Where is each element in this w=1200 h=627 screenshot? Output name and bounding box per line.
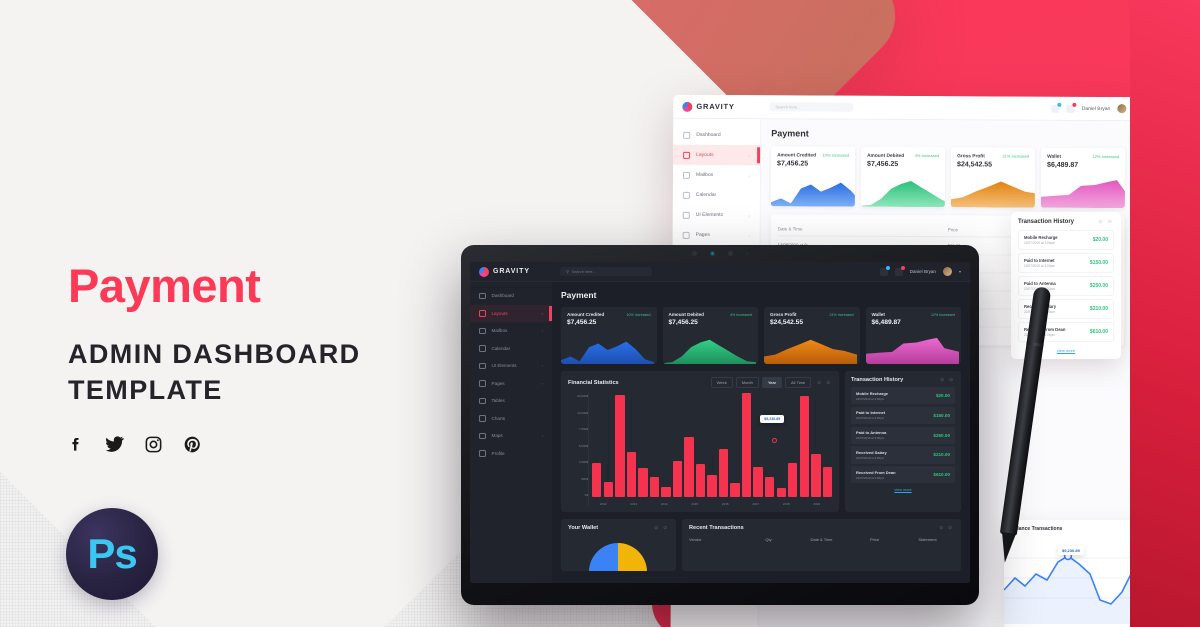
panel-menu-icon[interactable]: ⊙ ⊙	[940, 377, 955, 383]
bar	[742, 393, 751, 497]
panel-title: Balance Transactions	[1011, 526, 1147, 532]
chevron-icon: ‹	[748, 233, 749, 238]
chart-highlight-dot	[772, 438, 777, 443]
bg-search-input[interactable]: Search here...	[769, 102, 853, 111]
transaction-date: 22/07/2019 at 3:00pm	[1024, 241, 1058, 245]
bg-th-header: Transaction History ⊙ ⊙	[1018, 219, 1114, 225]
chevron-icon: ‹	[749, 173, 750, 178]
bar	[604, 482, 613, 497]
transaction-amount: $210.00	[1090, 306, 1108, 312]
y-axis: 20,000$ 10,000$ 7,500$ 5,000$ 2,500$ 500…	[568, 392, 588, 506]
transaction-amount: $250.00	[933, 433, 950, 438]
sidebar-item-ui-elements[interactable]: UI Elements‹	[673, 205, 760, 225]
column-header: Qty	[742, 537, 795, 542]
middle-row: Financial Statistics Week Month Year All…	[561, 371, 961, 512]
bar	[684, 437, 693, 497]
right-red-band	[1130, 0, 1200, 627]
stat-value: $6,489.87	[1047, 162, 1119, 169]
tablet-screen: GRAVITY ⚲ Search here... Daniel Bryan ▾ …	[470, 262, 970, 583]
stat-delta: 10% Increased	[627, 313, 651, 317]
stat-card-profit: Gross Profit21% Increased $24,542.55	[764, 307, 860, 364]
stat-label: Amount Debited	[867, 154, 904, 159]
bar	[627, 452, 636, 497]
transaction-amount: $150.00	[1090, 260, 1108, 266]
tab-week[interactable]: Week	[711, 377, 733, 388]
brand-text: GRAVITY	[696, 102, 734, 111]
sidebar-item-label: Profile	[492, 451, 505, 456]
sidebar-item-label: Dashboard	[696, 132, 720, 138]
sidebar-item-mailbox[interactable]: Mailbox‹	[673, 165, 760, 185]
ui-elements-icon	[683, 211, 690, 218]
x-tick: 2014	[649, 502, 680, 506]
x-tick: 2017	[741, 502, 772, 506]
search-icon: ⚲	[566, 269, 569, 274]
transaction-date: 22/07/2019 at 3:00pm	[856, 416, 885, 420]
sidebar-item-dashboard[interactable]: Dashboard	[673, 125, 760, 145]
stat-value: $24,542.55	[957, 161, 1029, 168]
stat-label: Gross Profit	[957, 154, 985, 159]
brand-text: GRAVITY	[493, 268, 530, 275]
tables-icon	[479, 398, 486, 405]
bar	[696, 464, 705, 497]
transaction-date: 22/07/2019 at 3:00pm	[856, 436, 886, 440]
page-title: Payment	[561, 290, 961, 300]
transaction-name: Mobile Recharge	[856, 391, 888, 396]
dashboard-icon	[479, 293, 486, 300]
stat-label: Wallet	[1047, 155, 1061, 160]
column-header: Statement	[901, 537, 954, 542]
sparkline-debited	[861, 177, 945, 207]
app-main: Payment Amount Credited10% Increased $7,…	[552, 282, 970, 583]
bg-topbar: GRAVITY Search here... Daniel Bryan	[673, 95, 1135, 121]
bg-brand: GRAVITY	[673, 101, 761, 111]
led-icon	[746, 252, 749, 255]
fin-header: Financial Statistics Week Month Year All…	[568, 377, 832, 388]
bottom-row: Your Wallet ⊙ ⊙ Recent Transactions ⊙ ⊙ …	[561, 519, 961, 571]
y-tick: 5,000$	[568, 444, 588, 448]
x-tick: 2018	[771, 502, 802, 506]
charts-icon	[479, 415, 486, 422]
stat-label: Amount Credited	[777, 153, 816, 158]
chevron-icon: ‹	[542, 363, 543, 368]
stat-delta: 4% Increased	[915, 153, 939, 158]
transaction-date: 22/07/2019 at 3:00pm	[856, 456, 887, 460]
sidebar-item-label: Tables	[492, 398, 505, 403]
transaction-name: Mobile Recharge	[1024, 235, 1058, 240]
user-name: Daniel Bryan	[910, 269, 936, 274]
bar	[800, 396, 809, 497]
bar	[753, 467, 762, 497]
recent-transactions-panel: Recent Transactions ⊙ ⊙ Vendor Qty Date …	[682, 519, 961, 571]
transaction-amount: $20.00	[1093, 237, 1108, 243]
transaction-row: Received Salary22/07/2019 at 3:00pm$210.…	[851, 446, 955, 463]
transaction-date: 22/07/2019 at 3:00pm	[856, 397, 888, 401]
bar	[719, 449, 728, 497]
promo-copy: Payment ADMIN DASHBOARD TEMPLATE	[68, 262, 398, 454]
stat-card-debited: Amount Debited4% Increased $7,456.25	[663, 307, 759, 364]
gravity-logo-icon	[682, 101, 692, 111]
stat-label: Wallet	[872, 312, 885, 317]
transaction-row: Mobile Recharge22/07/2019 at 3:00pm$20.0…	[1018, 230, 1114, 250]
sidebar-item-label: Maps	[492, 433, 503, 438]
wallet-donut-chart	[589, 543, 647, 571]
panel-title: Transaction History	[851, 377, 903, 383]
ui-elements-icon	[479, 363, 486, 370]
app-topbar: GRAVITY ⚲ Search here... Daniel Bryan ▾	[470, 262, 970, 282]
panel-title: Transaction History	[1018, 219, 1074, 225]
transaction-amount: $210.00	[933, 452, 950, 457]
sparkline-wallet	[1041, 178, 1125, 208]
bar	[615, 395, 624, 497]
sidebar-item-label: Layouts	[492, 311, 508, 316]
stat-delta: 21% Increased	[1002, 154, 1029, 159]
sidebar-item-calendar[interactable]: Calendar	[673, 185, 760, 205]
transaction-name: Paid to Internet	[1024, 258, 1055, 263]
panel-menu-icon[interactable]: ⊙ ⊙	[817, 380, 832, 386]
column-header: Date & Time	[778, 226, 948, 232]
sidebar-item-calendar[interactable]: Calendar	[470, 340, 552, 358]
your-wallet-panel: Your Wallet ⊙ ⊙	[561, 519, 676, 571]
sparkline-profit	[951, 177, 1035, 207]
chart-tooltip: $9,230.89	[760, 415, 784, 423]
app-brand[interactable]: GRAVITY	[470, 267, 552, 277]
stat-cards: Amount Credited10% Increased $7,456.25 A…	[561, 307, 961, 364]
mailbox-icon	[683, 171, 690, 178]
recent-table-header: Vendor Qty Date & Time Price Statement	[689, 531, 954, 542]
transaction-row: Received From Dean22/07/2019 at 3:00pm$6…	[851, 466, 955, 483]
promo-headline: Payment	[68, 262, 398, 309]
search-placeholder: Search here...	[572, 270, 596, 274]
stat-card: Gross Profit21% Increased $24,542.55	[951, 147, 1035, 207]
mailbox-icon	[479, 328, 486, 335]
view-more-link[interactable]: view more	[851, 486, 955, 492]
y-tick: 10,000$	[568, 411, 588, 415]
tab-year[interactable]: Year	[762, 377, 782, 388]
x-axis: 20122013201420152016201720182019	[588, 502, 832, 506]
facebook-icon[interactable]	[68, 434, 84, 454]
chart-tooltip: $9,230.89	[1058, 546, 1084, 555]
x-tick: 2019	[802, 502, 833, 506]
transaction-date: 22/07/2019 at 3:00pm	[1024, 264, 1055, 268]
column-header: Price	[848, 537, 901, 542]
sidebar-item-label: Dashboard	[492, 293, 514, 298]
transaction-history-panel: Transaction History ⊙ ⊙ Mobile Recharge2…	[845, 371, 961, 512]
bar	[707, 475, 716, 497]
sidebar-item-label: Charts	[492, 416, 506, 421]
sidebar-item-label: UI Elements	[696, 212, 723, 218]
bg-user-name: Daniel Bryan	[1082, 105, 1111, 111]
sidebar-item-mailbox[interactable]: Mailbox‹	[470, 322, 552, 340]
stat-card: Wallet12% Increased $6,489.87	[1041, 148, 1125, 208]
stat-delta: 12% Increased	[931, 313, 955, 317]
panel-title: Your Wallet	[568, 525, 598, 531]
sidebar-item-label: Calendar	[492, 346, 511, 351]
stat-card-credited: Amount Credited10% Increased $7,456.25	[561, 307, 657, 364]
photoshop-badge: Ps	[66, 508, 158, 600]
bar	[823, 467, 832, 497]
transaction-row: Paid to Internet22/07/2019 at 3:00pm$150…	[1018, 253, 1114, 273]
bar	[661, 487, 670, 497]
stat-card: Amount Debited4% Increased $7,456.25	[861, 147, 945, 207]
transaction-name: Paid to Antenna	[1024, 281, 1056, 286]
chevron-icon: ‹	[542, 433, 543, 438]
tablet-device: GRAVITY ⚲ Search here... Daniel Bryan ▾ …	[461, 245, 979, 605]
sidebar-item-label: Calendar	[696, 192, 716, 198]
transaction-row: Paid to Antenna22/07/2019 at 3:00pm$250.…	[851, 427, 955, 444]
social-icons	[68, 434, 398, 454]
range-tabs: Week Month Year All Time	[711, 377, 812, 388]
stat-label: Gross Profit	[770, 312, 797, 317]
transaction-date: 22/07/2019 at 3:00pm	[856, 476, 896, 480]
financial-statistics-panel: Financial Statistics Week Month Year All…	[561, 371, 839, 512]
maps-icon	[479, 433, 486, 440]
bar	[638, 468, 647, 497]
panel-title: Recent Transactions	[689, 525, 744, 531]
x-tick: 2012	[588, 502, 619, 506]
transaction-amount: $20.00	[936, 393, 950, 398]
sidebar-item-label: Mailbox	[492, 328, 508, 333]
transaction-name: Paid to Internet	[856, 410, 885, 415]
pinterest-icon[interactable]	[183, 435, 202, 454]
bar	[788, 463, 797, 497]
panel-menu-icon[interactable]: ⊙ ⊙	[654, 525, 669, 531]
tablet-sensors	[461, 251, 979, 256]
sparkline-profit	[764, 336, 857, 364]
transaction-amount: $250.00	[1090, 283, 1108, 289]
chevron-down-icon[interactable]: ▾	[959, 269, 961, 274]
layouts-icon	[479, 310, 486, 317]
sidebar-item-tables[interactable]: Tables	[470, 392, 552, 410]
bar	[730, 483, 739, 497]
pages-icon	[479, 380, 486, 387]
bg-page-title: Payment	[771, 128, 1125, 140]
app-body: Dashboard Layouts‹ Mailbox‹ Calendar UI …	[470, 282, 970, 583]
y-tick: 7,500$	[568, 427, 588, 431]
profile-icon	[479, 450, 486, 457]
sparkline-credited	[561, 336, 654, 364]
sparkline-wallet	[866, 336, 959, 364]
transaction-name: Paid to Antenna	[856, 430, 886, 435]
stat-value: $7,456.25	[867, 161, 939, 168]
panel-title: Financial Statistics	[568, 380, 619, 386]
stat-card-wallet: Wallet12% Increased $6,489.87	[866, 307, 962, 364]
mail-icon[interactable]	[880, 268, 888, 276]
chevron-icon: ‹	[542, 311, 543, 316]
gravity-logo-icon	[479, 267, 489, 277]
sidebar-item-label: Layouts	[696, 152, 714, 158]
calendar-icon	[683, 191, 690, 198]
sidebar-item-layouts[interactable]: Layouts‹	[470, 305, 552, 323]
twitter-icon[interactable]	[104, 434, 124, 454]
y-tick: 2,500$	[568, 460, 588, 464]
stat-label: Amount Credited	[567, 312, 604, 317]
pages-icon	[683, 231, 690, 238]
transaction-row: Paid to Internet22/07/2019 at 3:00pm$150…	[851, 407, 955, 424]
y-tick: 20,000$	[568, 394, 588, 398]
sidebar-item-profile[interactable]: Profile	[470, 445, 552, 463]
sidebar-item-label: Mailbox	[696, 172, 713, 178]
avatar[interactable]	[943, 267, 952, 276]
stat-value: $7,456.25	[567, 319, 651, 326]
sensor-icon	[692, 251, 697, 256]
transaction-amount: $610.00	[933, 472, 950, 477]
bar	[811, 454, 820, 497]
stat-delta: 10% Increased	[822, 153, 849, 158]
bell-icon[interactable]	[1067, 104, 1075, 112]
y-tick: 500$	[568, 477, 588, 481]
sparkline-credited	[771, 176, 855, 206]
chevron-icon: ‹	[542, 328, 543, 333]
bar	[777, 488, 786, 497]
panel-menu-icon[interactable]: ⊙ ⊙	[1098, 219, 1114, 225]
x-tick: 2015	[680, 502, 711, 506]
bell-icon[interactable]	[895, 268, 903, 276]
bar	[592, 463, 601, 497]
bar	[765, 477, 774, 497]
panel-menu-icon[interactable]: ⊙ ⊙	[939, 525, 954, 531]
transaction-name: Received Salary	[856, 450, 887, 455]
x-tick: 2016	[710, 502, 741, 506]
transaction-row: Mobile Recharge22/07/2019 at 3:00pm$20.0…	[851, 387, 955, 404]
topbar-right: Daniel Bryan ▾	[880, 267, 970, 276]
sidebar-item-pages[interactable]: Pages‹	[470, 375, 552, 393]
tab-month[interactable]: Month	[736, 377, 759, 388]
stylus-tip	[997, 532, 1015, 564]
bg-topbar-right: Daniel Bryan	[1052, 104, 1136, 113]
app-sidebar: Dashboard Layouts‹ Mailbox‹ Calendar UI …	[470, 282, 552, 583]
avatar[interactable]	[1117, 104, 1126, 113]
mail-icon[interactable]	[1052, 104, 1060, 112]
search-input[interactable]: ⚲ Search here...	[560, 267, 652, 276]
sparkline-debited	[663, 336, 756, 364]
transaction-amount: $610.00	[1090, 329, 1108, 335]
stat-value: $24,542.55	[770, 319, 854, 326]
chevron-icon: ‹	[748, 213, 749, 218]
stat-value: $6,489.87	[872, 319, 956, 326]
calendar-icon	[479, 345, 486, 352]
sidebar-item-dashboard[interactable]: Dashboard	[470, 287, 552, 305]
x-tick: 2013	[619, 502, 650, 506]
sidebar-item-pages[interactable]: Pages‹	[673, 225, 760, 245]
fin-plot: 20,000$ 10,000$ 7,500$ 5,000$ 2,500$ 500…	[568, 392, 832, 506]
bar	[650, 477, 659, 497]
bar-series	[588, 392, 832, 506]
stat-delta: 12% Increased	[1092, 154, 1119, 159]
instagram-icon[interactable]	[144, 435, 163, 454]
bar	[673, 461, 682, 497]
y-tick: 0$	[568, 493, 588, 497]
th-header: Transaction History ⊙ ⊙	[851, 377, 955, 383]
stat-label: Amount Debited	[669, 312, 704, 317]
stat-value: $7,456.25	[777, 160, 849, 167]
stat-delta: 4% Increased	[730, 313, 752, 317]
transaction-amount: $150.00	[933, 413, 950, 418]
sidebar-item-ui-elements[interactable]: UI Elements‹	[470, 357, 552, 375]
sidebar-item-label: Pages	[492, 381, 505, 386]
photoshop-label: Ps	[87, 533, 136, 575]
stat-value: $7,456.25	[669, 319, 753, 326]
sidebar-item-label: Pages	[696, 232, 710, 238]
column-header: Date & Time	[795, 537, 848, 542]
sidebar-item-charts[interactable]: Charts	[470, 410, 552, 428]
layouts-icon	[683, 151, 690, 158]
sidebar-item-label: UI Elements	[492, 363, 517, 368]
dashboard-icon	[683, 131, 690, 138]
camera-icon	[710, 251, 715, 256]
sidebar-item-maps[interactable]: Maps‹	[470, 427, 552, 445]
stat-delta: 21% Increased	[830, 313, 854, 317]
chevron-icon: ‹	[542, 381, 543, 386]
tab-all-time[interactable]: All Time	[785, 377, 811, 388]
column-header: Vendor	[689, 537, 742, 542]
sidebar-item-layouts[interactable]: Layouts‹	[673, 145, 760, 165]
transaction-row: Paid to Antenna22/07/2019 at 3:00pm$250.…	[1018, 276, 1114, 296]
stat-card: Amount Credited10% Increased $7,456.25	[771, 146, 855, 206]
transaction-name: Received From Dean	[856, 470, 896, 475]
chevron-icon: ‹	[749, 153, 750, 158]
promo-subhead: ADMIN DASHBOARD TEMPLATE	[68, 337, 398, 408]
bg-stat-cards: Amount Credited10% Increased $7,456.25 A…	[771, 146, 1125, 208]
sensor-icon	[728, 251, 733, 256]
